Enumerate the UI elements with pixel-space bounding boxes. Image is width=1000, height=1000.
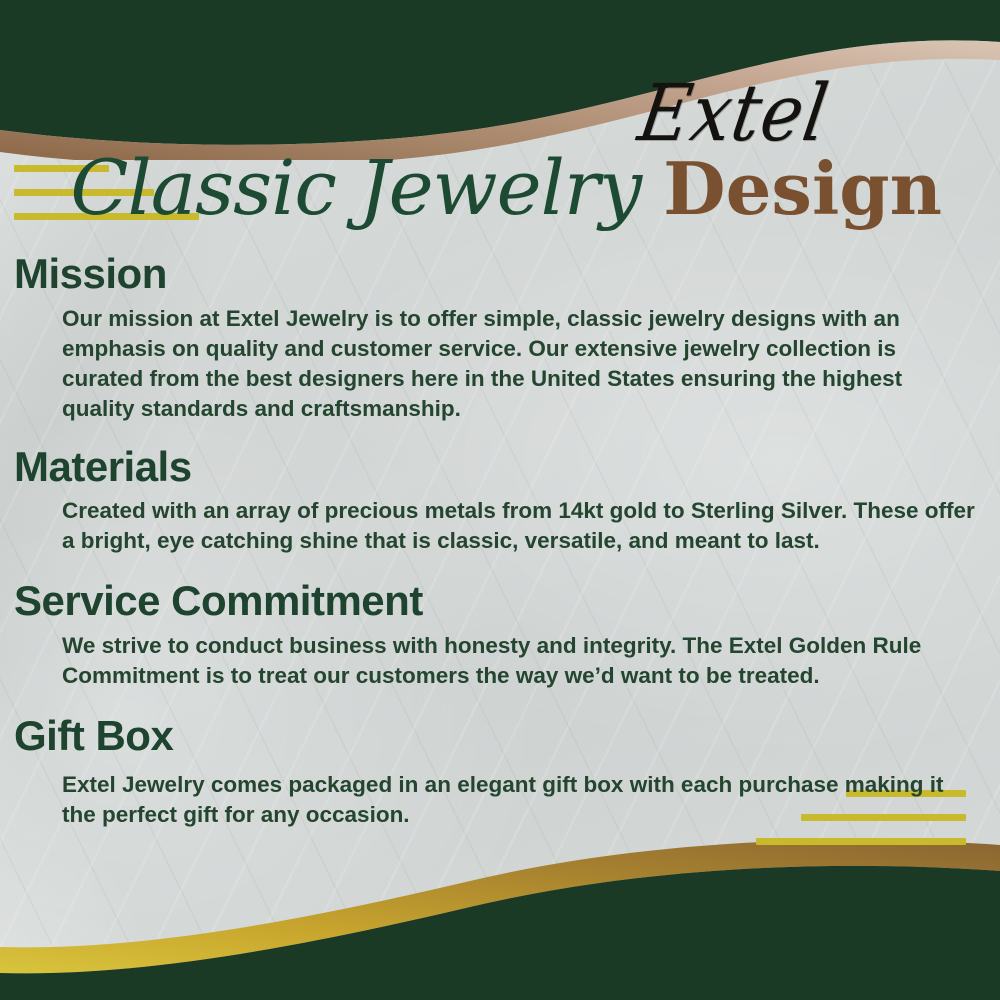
brand-logo-extel: Extel [634, 74, 834, 152]
poster-title: Classic Jewelry Design [0, 150, 1000, 250]
section-body-gift-box: Extel Jewelry comes packaged in an elega… [62, 770, 980, 830]
section-heading-service-commitment: Service Commitment [14, 580, 980, 623]
poster-canvas: Extel Classic Jewelry Design Mission Our… [0, 0, 1000, 1000]
title-design: Design [663, 153, 942, 225]
section-gift-box: Gift Box Extel Jewelry comes packaged in… [14, 715, 980, 830]
section-heading-materials: Materials [14, 446, 980, 489]
title-classic-jewelry: Classic Jewelry [70, 150, 641, 226]
section-materials: Materials Created with an array of preci… [14, 446, 980, 557]
section-body-materials: Created with an array of precious metals… [62, 496, 980, 556]
bottom-wave-banner [0, 825, 1000, 1000]
section-heading-gift-box: Gift Box [14, 715, 980, 758]
top-green-band [0, 0, 1000, 145]
section-heading-mission: Mission [14, 253, 980, 296]
section-service-commitment: Service Commitment We strive to conduct … [14, 580, 980, 691]
section-body-service-commitment: We strive to conduct business with hones… [62, 631, 980, 691]
section-body-mission: Our mission at Extel Jewelry is to offer… [62, 304, 980, 424]
top-wave-banner [0, 0, 1000, 160]
section-mission: Mission Our mission at Extel Jewelry is … [14, 253, 980, 424]
content-sections: Mission Our mission at Extel Jewelry is … [14, 253, 980, 850]
